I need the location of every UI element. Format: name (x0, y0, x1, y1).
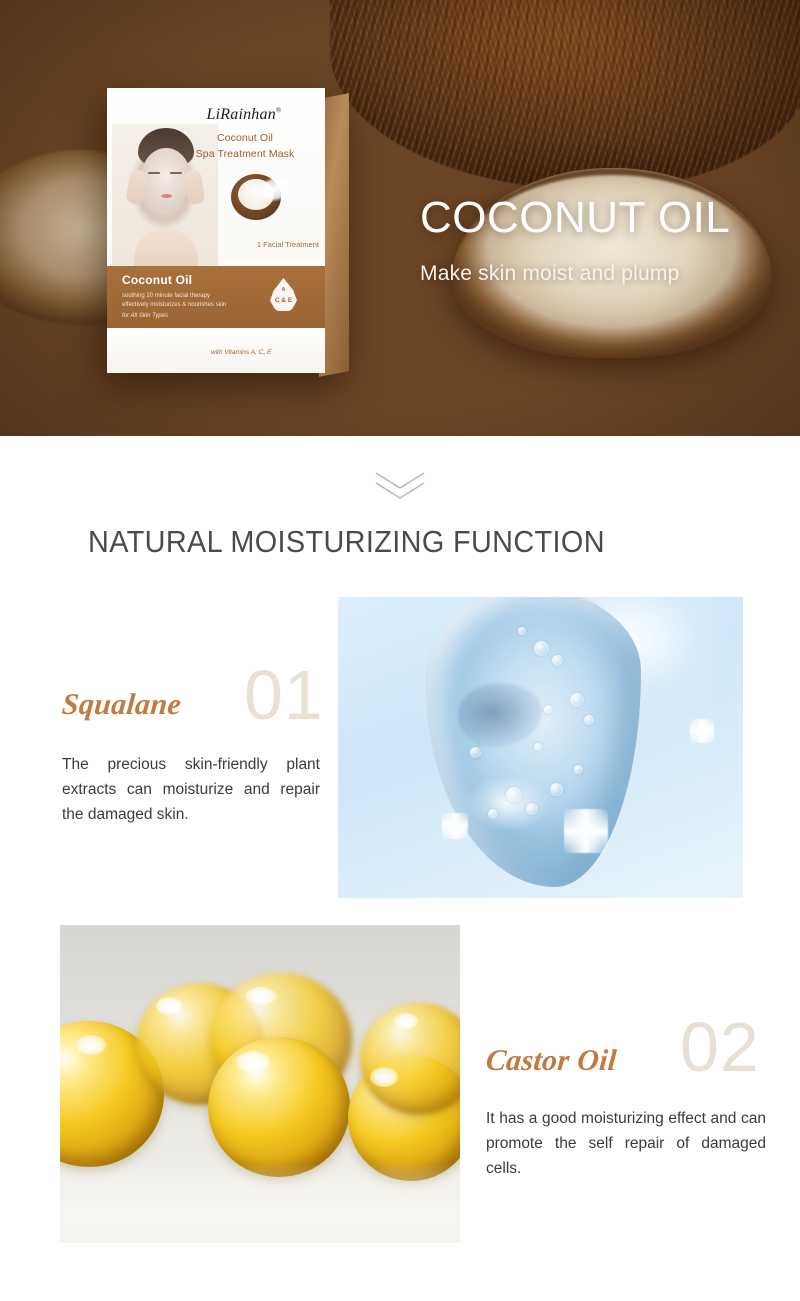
package-band-description: soothing 20 minute facial therapy effect… (122, 292, 262, 321)
gel-bubble (544, 705, 553, 714)
gel-bubble (534, 743, 542, 751)
hero-title: COCONUT OIL (420, 196, 730, 240)
model-lips (161, 194, 172, 198)
gel-bubble (470, 747, 481, 758)
product-package: LiRainhan® Coconut Oil Spa Treatment Mas… (107, 88, 325, 373)
droplet-label-ce: C & E (270, 297, 297, 304)
package-product-line1: Coconut Oil (169, 132, 321, 144)
hero-subtitle: Make skin moist and plump (420, 262, 679, 286)
package-band-title: Coconut Oil (122, 273, 192, 287)
feature-name: Squalane (61, 688, 183, 722)
gel-bubble (574, 765, 583, 774)
capsule-highlight (370, 1067, 398, 1087)
package-coconut-graphic (231, 164, 303, 226)
package-treatment-count: 1 Facial Treatment (217, 240, 319, 249)
package-vitamins-text: with Vitamins A, C, E (211, 349, 311, 356)
gel-droplet (426, 597, 641, 887)
castor-oil-image (60, 925, 460, 1243)
double-chevron-down-icon (372, 470, 428, 504)
gel-bubble (534, 641, 549, 656)
feature-number: 02 (680, 1012, 760, 1082)
section-heading: NATURAL MOISTURIZING FUNCTION (88, 524, 605, 560)
droplet-label-a: A (270, 287, 297, 293)
band-desc-line2: effectively moisturizes & nourishes skin (122, 302, 226, 308)
model-hand-left (125, 169, 147, 205)
model-eye-right (170, 172, 182, 174)
model-body (134, 228, 198, 268)
feature-description: The precious skin-friendly plant extract… (62, 752, 320, 827)
gel-sparkle (442, 813, 468, 839)
capsule-highlight (156, 997, 182, 1015)
package-brand-name: LiRainhan® (169, 106, 319, 124)
model-hand-right (183, 169, 205, 205)
feature-description: It has a good moisturizing effect and ca… (486, 1106, 766, 1181)
squalane-gel-image (338, 597, 743, 898)
band-desc-line3: for All Skin Types (122, 312, 262, 321)
package-product-line2: Spa Treatment Mask (169, 148, 321, 160)
capsule-highlight (246, 987, 276, 1005)
package-model-photo (112, 124, 218, 266)
package-front-panel: LiRainhan® Coconut Oil Spa Treatment Mas… (107, 88, 325, 373)
gel-bubble (550, 783, 563, 796)
package-brown-band: Coconut Oil soothing 20 minute facial th… (107, 266, 325, 328)
gel-bubble (506, 787, 522, 803)
model-eye-left (148, 172, 160, 174)
gel-bubble (526, 803, 538, 815)
gel-bubble (552, 655, 563, 666)
vitamin-droplet-icon: A C & E (270, 278, 297, 312)
capsule-highlight (394, 1013, 418, 1029)
gel-bubble (570, 693, 584, 707)
feature-name: Castor Oil (485, 1044, 619, 1078)
gel-bubble (518, 627, 526, 635)
band-desc-line1: soothing 20 minute facial therapy (122, 293, 210, 299)
feature-number: 01 (244, 660, 324, 730)
package-lower-white-area: with Vitamins A, C, E (107, 328, 325, 373)
gel-sparkle (564, 809, 608, 853)
gel-bubble (488, 809, 498, 819)
brand-text: LiRainhan (207, 106, 276, 123)
hero-banner: LiRainhan® Coconut Oil Spa Treatment Mas… (0, 0, 800, 436)
gel-sparkle (690, 719, 714, 743)
oil-capsule (208, 1037, 350, 1177)
capsule-highlight (76, 1035, 106, 1055)
capsule-highlight (236, 1051, 270, 1073)
trademark-symbol: ® (276, 107, 282, 115)
gel-bubble (584, 715, 594, 725)
surface-reflection (60, 1163, 460, 1243)
